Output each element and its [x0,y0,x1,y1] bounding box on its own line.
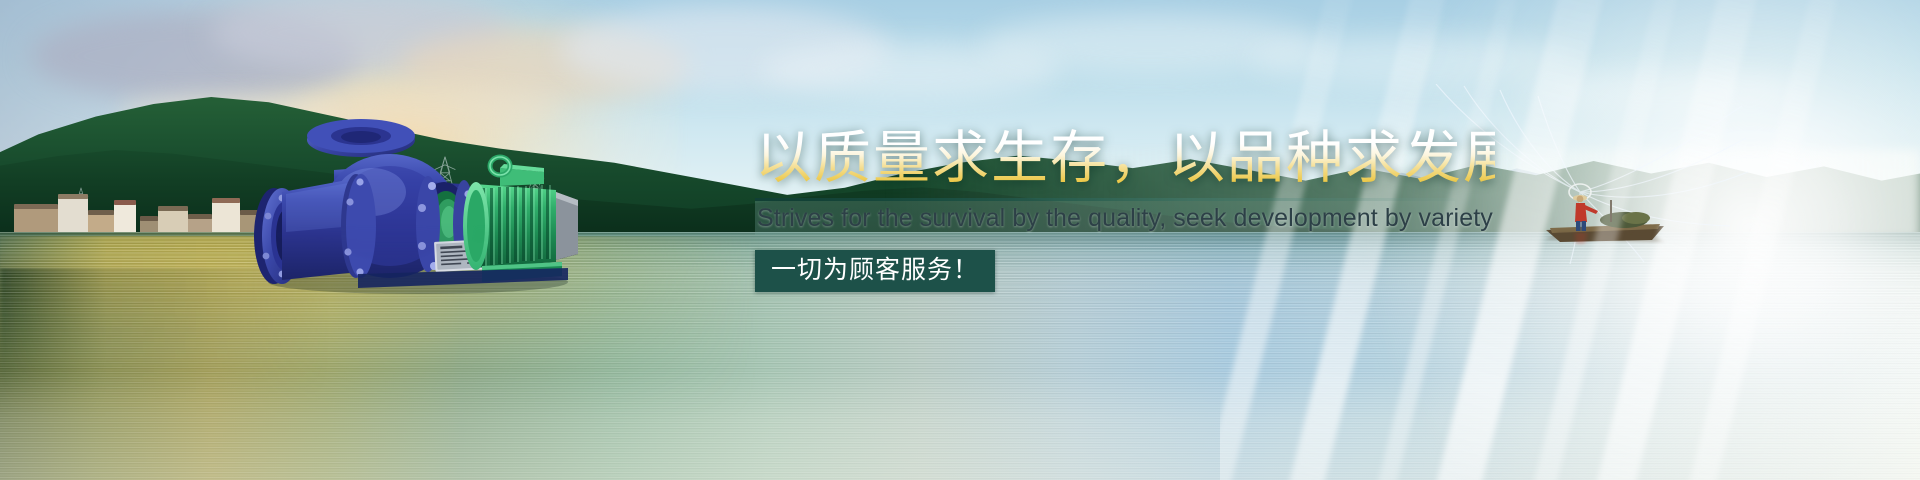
pump-reflection [238,222,588,296]
hero-banner: 以质量求生存，以品种求发展 Strives for the survival b… [0,0,1920,480]
village-building-roof [88,210,114,215]
village-building-roof [140,216,158,221]
headline-slogan: 以质量求生存，以品种求发展 [755,122,1495,194]
village-building-roof [188,214,212,219]
village-building-roof [58,194,88,199]
service-badge: 一切为顾客服务！ [755,250,995,292]
subheadline-english: Strives for the survival by the quality,… [757,203,1497,233]
village-building-roof [14,204,58,209]
village-building-roof [158,206,188,211]
banner-copy: 以质量求生存，以品种求发展 Strives for the survival b… [755,122,1495,292]
village-building-roof [114,200,136,205]
village-building-roof [212,198,240,203]
